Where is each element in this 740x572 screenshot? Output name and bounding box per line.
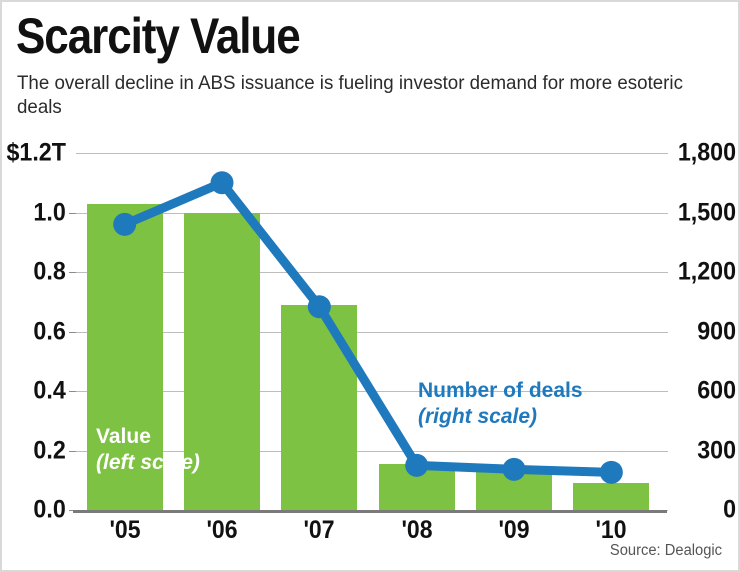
value-series-annotation: Value (left scale) — [96, 424, 200, 475]
left-axis-label: 1.0 — [34, 198, 66, 227]
left-axis-label: 0.8 — [34, 258, 66, 287]
gridline — [76, 332, 660, 333]
value-annotation-line2: (left scale) — [96, 450, 200, 476]
gridline — [76, 153, 660, 154]
x-axis-baseline — [73, 510, 667, 513]
right-axis-tick — [660, 332, 668, 333]
right-axis-label: 1,200 — [675, 258, 736, 287]
left-axis-label: 0.6 — [34, 317, 66, 346]
gridline — [76, 272, 660, 273]
value-annotation-line1: Value — [96, 424, 200, 450]
chart-title: Scarcity Value — [16, 10, 300, 63]
source-note: Source: Dealogic — [610, 542, 722, 560]
right-axis-tick — [660, 391, 668, 392]
bar — [281, 305, 357, 510]
right-axis-tick — [660, 153, 668, 154]
deals-annotation-line2: (right scale) — [418, 404, 583, 430]
x-axis-label: '07 — [273, 516, 365, 545]
x-axis-label: '09 — [468, 516, 560, 545]
bar — [379, 464, 455, 510]
left-axis-label: 0.0 — [34, 496, 66, 525]
bar — [573, 483, 649, 510]
right-axis-tick — [660, 272, 668, 273]
gridline — [76, 213, 660, 214]
right-axis-label: 1,500 — [675, 198, 736, 227]
chart-subtitle: The overall decline in ABS issuance is f… — [17, 72, 689, 120]
right-axis-label: 0 — [675, 496, 736, 525]
left-axis-tick — [69, 272, 76, 273]
left-axis-title: $1.2T — [7, 139, 66, 168]
left-axis-tick — [69, 213, 76, 214]
left-axis-tick — [69, 451, 76, 452]
chart-figure: Scarcity Value The overall decline in AB… — [0, 0, 740, 572]
bar — [476, 471, 552, 510]
left-axis-tick — [69, 332, 76, 333]
left-axis-tick — [69, 391, 76, 392]
x-axis-label: '08 — [371, 516, 463, 545]
deals-annotation-line1: Number of deals — [418, 378, 583, 404]
x-axis-label: '10 — [565, 516, 657, 545]
x-axis-label: '06 — [176, 516, 268, 545]
deals-series-annotation: Number of deals (right scale) — [418, 378, 583, 429]
right-axis-label: 900 — [675, 317, 736, 346]
right-axis-tick — [660, 451, 668, 452]
right-axis-label: 600 — [675, 377, 736, 406]
right-axis-label: 1,800 — [675, 139, 736, 168]
x-axis-label: '05 — [79, 516, 171, 545]
left-axis-label: 0.2 — [34, 436, 66, 465]
right-axis-tick — [660, 213, 668, 214]
left-axis-label: 0.4 — [34, 377, 66, 406]
right-axis-label: 300 — [675, 436, 736, 465]
